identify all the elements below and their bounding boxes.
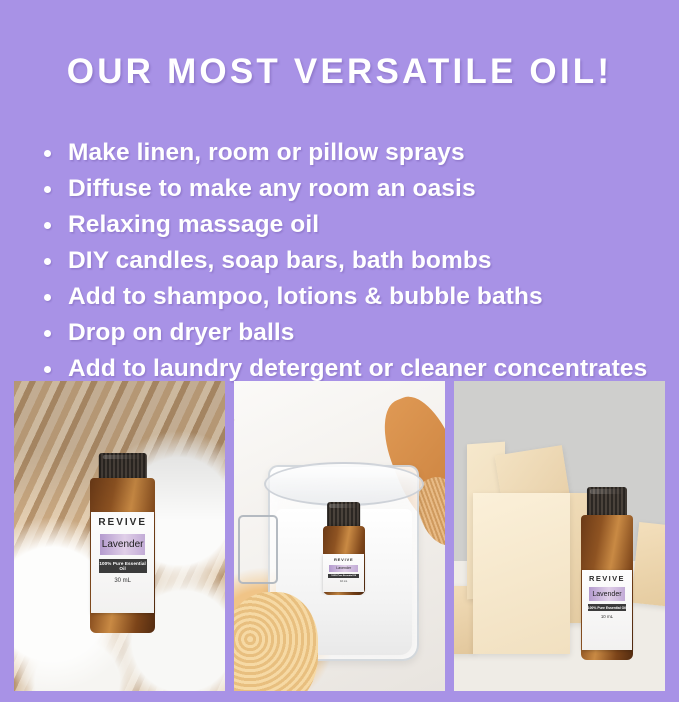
oil-bottle: REVIVE Lavender 100% Pure Essential Oil … bbox=[90, 453, 155, 633]
soap-bar bbox=[631, 522, 665, 607]
bottle-glass bbox=[90, 478, 155, 633]
list-item: Relaxing massage oil bbox=[40, 207, 679, 243]
volume-text: 30 mL bbox=[114, 578, 131, 584]
list-item: DIY candles, soap bars, bath bombs bbox=[40, 243, 679, 279]
list-item: Diffuse to make any room an oasis bbox=[40, 171, 679, 207]
scent-name: Lavender bbox=[329, 565, 358, 572]
dryer-balls-photo: REVIVE Lavender 100% Pure Essential Oil … bbox=[14, 381, 225, 691]
purity-text: 100% Pure Essential Oil bbox=[588, 604, 626, 610]
jar-clasp bbox=[238, 515, 278, 584]
bath-salts-jar-photo: REVIVE Lavender 100% Pure Essential Oil … bbox=[234, 381, 445, 691]
bottle-cap-icon bbox=[98, 453, 146, 484]
jar-rim bbox=[264, 462, 424, 506]
oil-bottle: REVIVE Lavender 100% Pure Essential Oil … bbox=[323, 502, 365, 595]
bottle-label: REVIVE Lavender 100% Pure Essential Oil … bbox=[91, 512, 154, 613]
scent-name: Lavender bbox=[100, 534, 145, 555]
sea-sponge bbox=[234, 592, 318, 691]
bottle-label: REVIVE Lavender 100% Pure Essential Oil … bbox=[323, 554, 364, 591]
purity-text: 100% Pure Essential Oil bbox=[328, 574, 359, 577]
list-item: Add to shampoo, lotions & bubble baths bbox=[40, 279, 679, 315]
brand-name: REVIVE bbox=[589, 574, 625, 583]
page-title: OUR MOST VERSATILE OIL! bbox=[0, 23, 679, 89]
product-feature-poster: OUR MOST VERSATILE OIL! Make linen, room… bbox=[0, 23, 679, 702]
bottle-label: REVIVE Lavender 100% Pure Essential Oil … bbox=[582, 570, 633, 650]
brand-name: REVIVE bbox=[334, 557, 353, 562]
brand-name: REVIVE bbox=[98, 517, 147, 528]
photo-strip: REVIVE Lavender 100% Pure Essential Oil … bbox=[0, 381, 679, 691]
soap-bar bbox=[473, 493, 570, 654]
volume-text: 10 mL bbox=[601, 614, 613, 619]
volume-text: 10 mL bbox=[340, 580, 347, 583]
list-item: Drop on dryer balls bbox=[40, 315, 679, 351]
purity-text: 100% Pure Essential Oil bbox=[99, 559, 147, 572]
soap-bars-photo: REVIVE Lavender 100% Pure Essential Oil … bbox=[454, 381, 665, 691]
uses-list: Make linen, room or pillow sprays Diffus… bbox=[0, 113, 679, 387]
scent-name: Lavender bbox=[589, 587, 625, 601]
list-item: Make linen, room or pillow sprays bbox=[40, 135, 679, 171]
oil-bottle: REVIVE Lavender 100% Pure Essential Oil … bbox=[581, 487, 634, 661]
